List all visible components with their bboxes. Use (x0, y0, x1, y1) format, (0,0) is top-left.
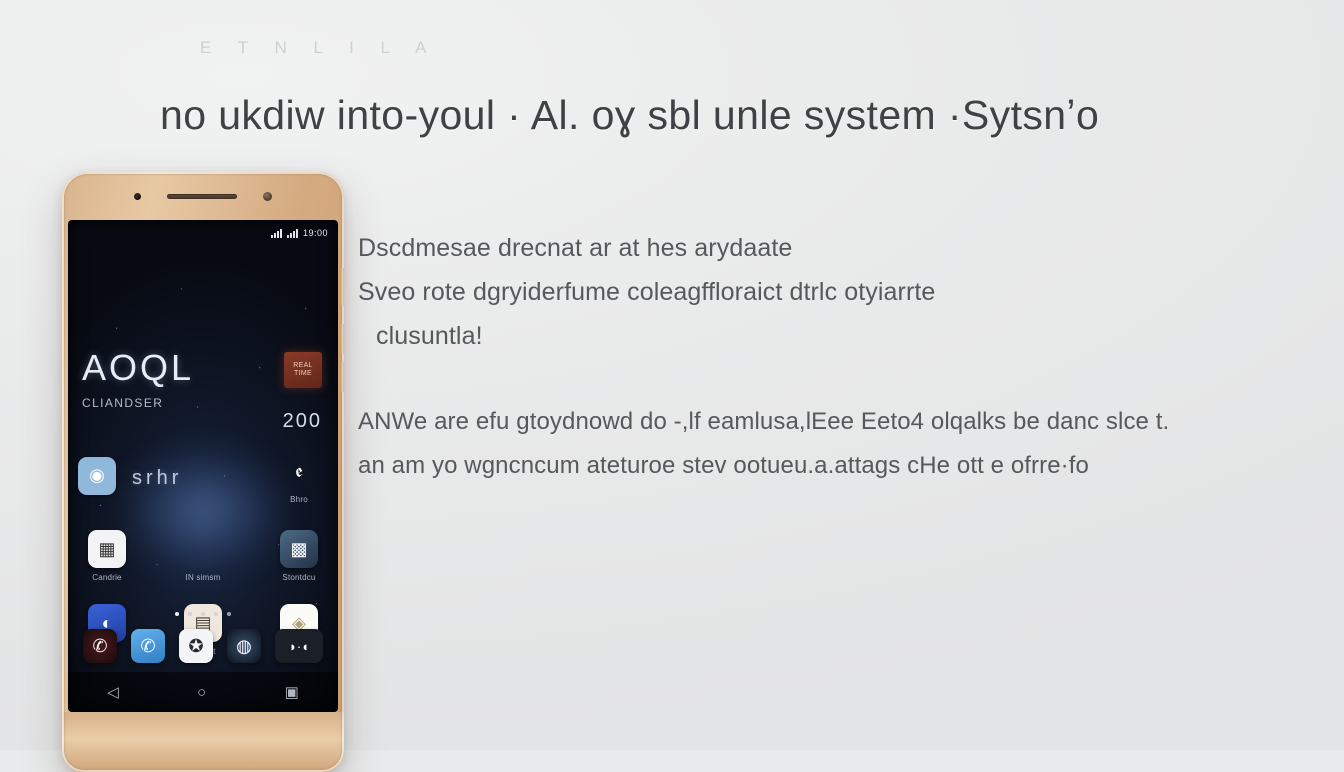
search-input[interactable]: srhr (132, 467, 254, 490)
gallery-app-icon[interactable] (184, 530, 222, 568)
home-widget[interactable]: AOQL CLIANDSER REAL TIME 200 (82, 348, 324, 430)
apps-drawer-glyph: ◗·◖ (289, 639, 309, 654)
search-row[interactable]: ◉ srhr 𝖊 Bhro (78, 452, 328, 504)
paragraph-1: Dscdmesae drecnat ar at hes arydaate (358, 226, 1308, 270)
browser-dock-icon[interactable]: ✪ (179, 629, 213, 663)
status-bar: 19:00 (68, 220, 338, 246)
store-app-cell[interactable]: ▩ Stontdcu (270, 530, 328, 582)
phone-bottom-bezel (62, 712, 344, 772)
nav-home-icon[interactable]: ○ (197, 684, 206, 701)
page-dot-3[interactable] (201, 612, 205, 616)
page-dot-4[interactable] (214, 612, 218, 616)
app-dock: ✆ ✆ ✪ ◍ ◗·◖ (76, 624, 330, 668)
paragraph-3: clusuntla! (358, 314, 1308, 358)
browser-app-label: Bhro (270, 495, 328, 504)
notes-glyph: ▦ (98, 539, 115, 560)
browser-app-cell[interactable]: 𝖊 Bhro (270, 452, 328, 504)
volume-up-button[interactable] (341, 324, 344, 354)
signal-bars-icon-secondary (287, 228, 298, 238)
paragraph-5: an am yo wgncncum ateturoe stev ootueu.a… (358, 444, 1308, 488)
apps-drawer-icon[interactable]: ◗·◖ (275, 629, 323, 663)
store-app-label: Stontdcu (270, 573, 328, 582)
phone-top-bezel (62, 172, 344, 220)
power-button[interactable] (341, 268, 344, 306)
signal-bars-icon (271, 228, 282, 238)
camera-dock-icon[interactable]: ◍ (227, 629, 261, 663)
page-root: E T N L I L A no ukdiw into-youl · Al. o… (0, 0, 1344, 750)
phone-screen[interactable]: 19:00 AOQL CLIANDSER REAL TIME 200 ◉ srh… (68, 220, 338, 712)
paragraph-2: Sveo rote dgryiderfume coleagffloraict d… (358, 270, 1308, 314)
volume-down-button[interactable] (341, 362, 344, 392)
nav-back-icon[interactable]: ◁ (107, 683, 119, 701)
notes-app-label: Candrie (78, 573, 136, 582)
widget-right-group: REAL TIME 200 (283, 352, 322, 433)
notes-app-cell[interactable]: ▦ Candrie (78, 530, 136, 582)
status-badge: REAL TIME (284, 352, 322, 388)
page-dot-5[interactable] (227, 612, 231, 616)
store-app-icon[interactable]: ▩ (280, 530, 318, 568)
camera-app-icon[interactable]: ◉ (78, 457, 116, 495)
page-title: no ukdiw into-youl · Al. oɣ sbl unle sys… (160, 92, 1099, 139)
page-dot-2[interactable] (188, 612, 192, 616)
widget-number: 200 (283, 410, 322, 433)
contacts-glyph: ✆ (140, 636, 155, 657)
phone-glyph: ✆ (92, 636, 107, 657)
browser-dock-glyph: ✪ (188, 636, 203, 657)
phone-app-icon[interactable]: ✆ (83, 629, 117, 663)
store-glyph: ▩ (290, 539, 307, 560)
navigation-bar: ◁ ○ ▣ (68, 672, 338, 712)
notes-app-icon[interactable]: ▦ (88, 530, 126, 568)
paragraph-4: ANWe are efu gtoydnowd do -,lf eamlusa,l… (358, 400, 1308, 444)
proximity-sensor-icon (263, 192, 272, 201)
article-body: Dscdmesae drecnat ar at hes arydaate Sve… (358, 226, 1308, 488)
front-camera-icon (134, 193, 141, 200)
contacts-app-icon[interactable]: ✆ (131, 629, 165, 663)
eyebrow-label: E T N L I L A (200, 38, 438, 58)
app-row-2: ▦ Candrie IN simsm ▩ Stont (78, 530, 328, 582)
paragraph-spacer (358, 358, 1308, 400)
browser-glyph: 𝖊 (295, 461, 302, 482)
browser-app-icon[interactable]: 𝖊 (280, 452, 318, 490)
page-dot-1[interactable] (175, 612, 179, 616)
page-indicator[interactable] (68, 612, 338, 616)
smartphone-device: 19:00 AOQL CLIANDSER REAL TIME 200 ◉ srh… (62, 172, 344, 772)
nav-recents-icon[interactable]: ▣ (285, 683, 299, 701)
camera-glyph: ◉ (89, 465, 105, 486)
status-time: 19:00 (303, 228, 328, 238)
gallery-app-label: IN simsm (174, 573, 232, 582)
earpiece-speaker (167, 194, 237, 199)
gallery-app-cell[interactable]: IN simsm (174, 530, 232, 582)
camera-dock-glyph: ◍ (236, 636, 252, 657)
